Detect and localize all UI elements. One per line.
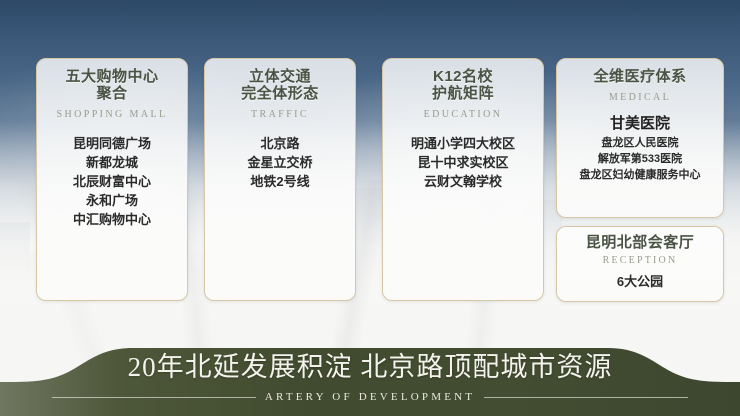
list-item-primary: 甘美医院 [557,113,723,135]
list-item: 北京路 [205,134,355,153]
card-medical[interactable]: 全维医疗体系 MEDICAL 甘美医院 盘龙区人民医院 解放军第533医院 盘龙… [556,58,724,218]
card-list-reception: 6大公园 [557,272,723,291]
poster-canvas: 五大购物中心 聚合 SHOPPING MALL 昆明同德广场 新都龙城 北辰财富… [0,0,740,416]
list-item: 北辰财富中心 [37,172,187,191]
list-item: 明通小学四大校区 [383,134,543,153]
card-subtitle-reception: RECEPTION [557,255,723,267]
card-list-education: 明通小学四大校区 昆十中求实校区 云财文翰学校 [383,134,543,191]
card-education[interactable]: K12名校 护航矩阵 EDUCATION 明通小学四大校区 昆十中求实校区 云财… [382,58,544,301]
card-subtitle-medical: MEDICAL [557,92,723,104]
card-title-line: 全维医疗体系 [557,68,723,85]
card-shopping-mall[interactable]: 五大购物中心 聚合 SHOPPING MALL 昆明同德广场 新都龙城 北辰财富… [36,58,188,301]
card-title-reception: 昆明北部会客厅 [557,234,723,251]
card-subtitle-education: EDUCATION [383,109,543,121]
card-title-line: 完全体形态 [205,85,355,102]
list-item: 昆十中求实校区 [383,153,543,172]
list-item: 盘龙区妇幼健康服务中心 [557,167,723,183]
list-item: 昆明同德广场 [37,134,187,153]
card-title-line: 护航矩阵 [383,85,543,102]
card-title-line: K12名校 [383,68,543,85]
card-title-education: K12名校 护航矩阵 [383,68,543,102]
banner-rule-left [52,397,256,398]
list-item: 6大公园 [557,272,723,291]
list-item: 新都龙城 [37,153,187,172]
list-item: 永和广场 [37,191,187,210]
card-title-shopping-mall: 五大购物中心 聚合 [37,68,187,102]
card-title-line: 五大购物中心 [37,68,187,85]
banner-subline: ARTERY OF DEVELOPMENT [265,391,475,403]
card-title-line: 昆明北部会客厅 [557,234,723,251]
banner-subline-group: ARTERY OF DEVELOPMENT [52,391,688,403]
card-title-medical: 全维医疗体系 [557,68,723,85]
list-item: 解放军第533医院 [557,151,723,167]
card-title-traffic: 立体交通 完全体形态 [205,68,355,102]
card-subtitle-traffic: TRAFFIC [205,109,355,121]
card-subtitle-shopping-mall: SHOPPING MALL [37,109,187,121]
card-title-line: 立体交通 [205,68,355,85]
card-reception[interactable]: 昆明北部会客厅 RECEPTION 6大公园 [556,226,724,302]
banner-headline: 20年北延发展积淀 北京路顶配城市资源 [0,350,740,384]
list-item: 盘龙区人民医院 [557,135,723,151]
list-item: 地铁2号线 [205,172,355,191]
card-list-traffic: 北京路 金星立交桥 地铁2号线 [205,134,355,191]
card-list-medical: 甘美医院 盘龙区人民医院 解放军第533医院 盘龙区妇幼健康服务中心 [557,113,723,183]
bottom-banner: 20年北延发展积淀 北京路顶配城市资源 ARTERY OF DEVELOPMEN… [0,344,740,416]
card-list-shopping-mall: 昆明同德广场 新都龙城 北辰财富中心 永和广场 中汇购物中心 [37,134,187,229]
card-traffic[interactable]: 立体交通 完全体形态 TRAFFIC 北京路 金星立交桥 地铁2号线 [204,58,356,301]
list-item: 金星立交桥 [205,153,355,172]
banner-rule-right [484,397,688,398]
list-item: 云财文翰学校 [383,172,543,191]
card-title-line: 聚合 [37,85,187,102]
list-item: 中汇购物中心 [37,210,187,229]
